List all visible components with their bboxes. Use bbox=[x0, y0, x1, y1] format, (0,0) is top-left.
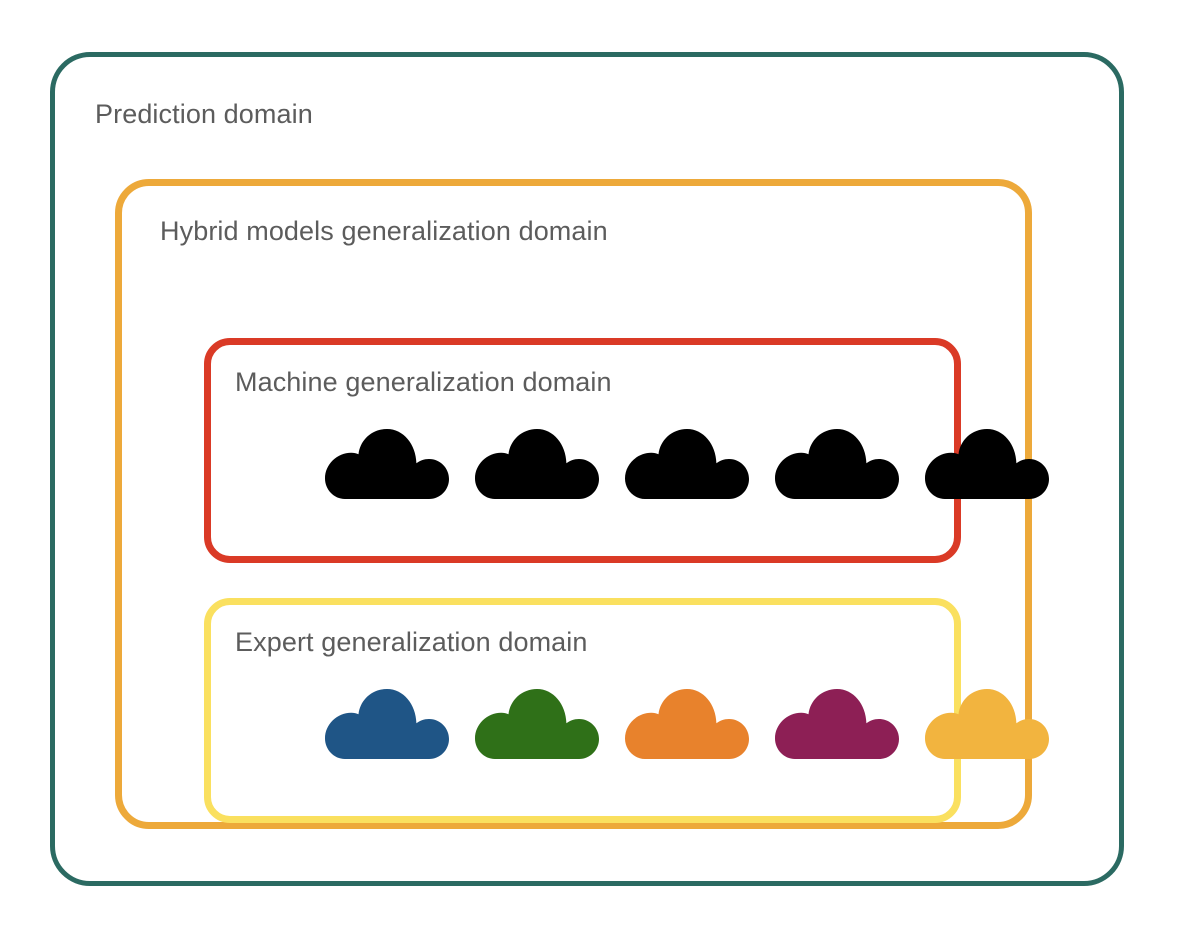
cloud-magenta-shape bbox=[775, 689, 899, 759]
cloud-1-shape bbox=[325, 429, 449, 499]
cloud-blue-shape bbox=[325, 689, 449, 759]
cloud-2-shape bbox=[475, 429, 599, 499]
machine-cloud-row bbox=[323, 427, 1051, 501]
cloud-3-icon bbox=[623, 427, 751, 501]
expert-domain-label: Expert generalization domain bbox=[235, 627, 588, 658]
cloud-amber-icon bbox=[923, 687, 1051, 761]
prediction-domain-label: Prediction domain bbox=[95, 99, 313, 130]
diagram-canvas: Prediction domain Hybrid models generali… bbox=[0, 0, 1178, 932]
cloud-orange-shape bbox=[625, 689, 749, 759]
hybrid-models-domain-box: Hybrid models generalization domain Mach… bbox=[115, 179, 1032, 829]
cloud-4-shape bbox=[775, 429, 899, 499]
machine-domain-label: Machine generalization domain bbox=[235, 367, 612, 398]
cloud-2-icon bbox=[473, 427, 601, 501]
expert-cloud-row bbox=[323, 687, 1051, 761]
prediction-domain-box: Prediction domain Hybrid models generali… bbox=[50, 52, 1124, 886]
cloud-green-shape bbox=[475, 689, 599, 759]
cloud-green-icon bbox=[473, 687, 601, 761]
cloud-1-icon bbox=[323, 427, 451, 501]
cloud-amber-shape bbox=[925, 689, 1049, 759]
expert-domain-box: Expert generalization domain bbox=[204, 598, 961, 823]
hybrid-models-domain-label: Hybrid models generalization domain bbox=[160, 216, 608, 247]
machine-domain-box: Machine generalization domain bbox=[204, 338, 961, 563]
cloud-blue-icon bbox=[323, 687, 451, 761]
cloud-3-shape bbox=[625, 429, 749, 499]
cloud-orange-icon bbox=[623, 687, 751, 761]
cloud-4-icon bbox=[773, 427, 901, 501]
cloud-5-icon bbox=[923, 427, 1051, 501]
cloud-magenta-icon bbox=[773, 687, 901, 761]
cloud-5-shape bbox=[925, 429, 1049, 499]
